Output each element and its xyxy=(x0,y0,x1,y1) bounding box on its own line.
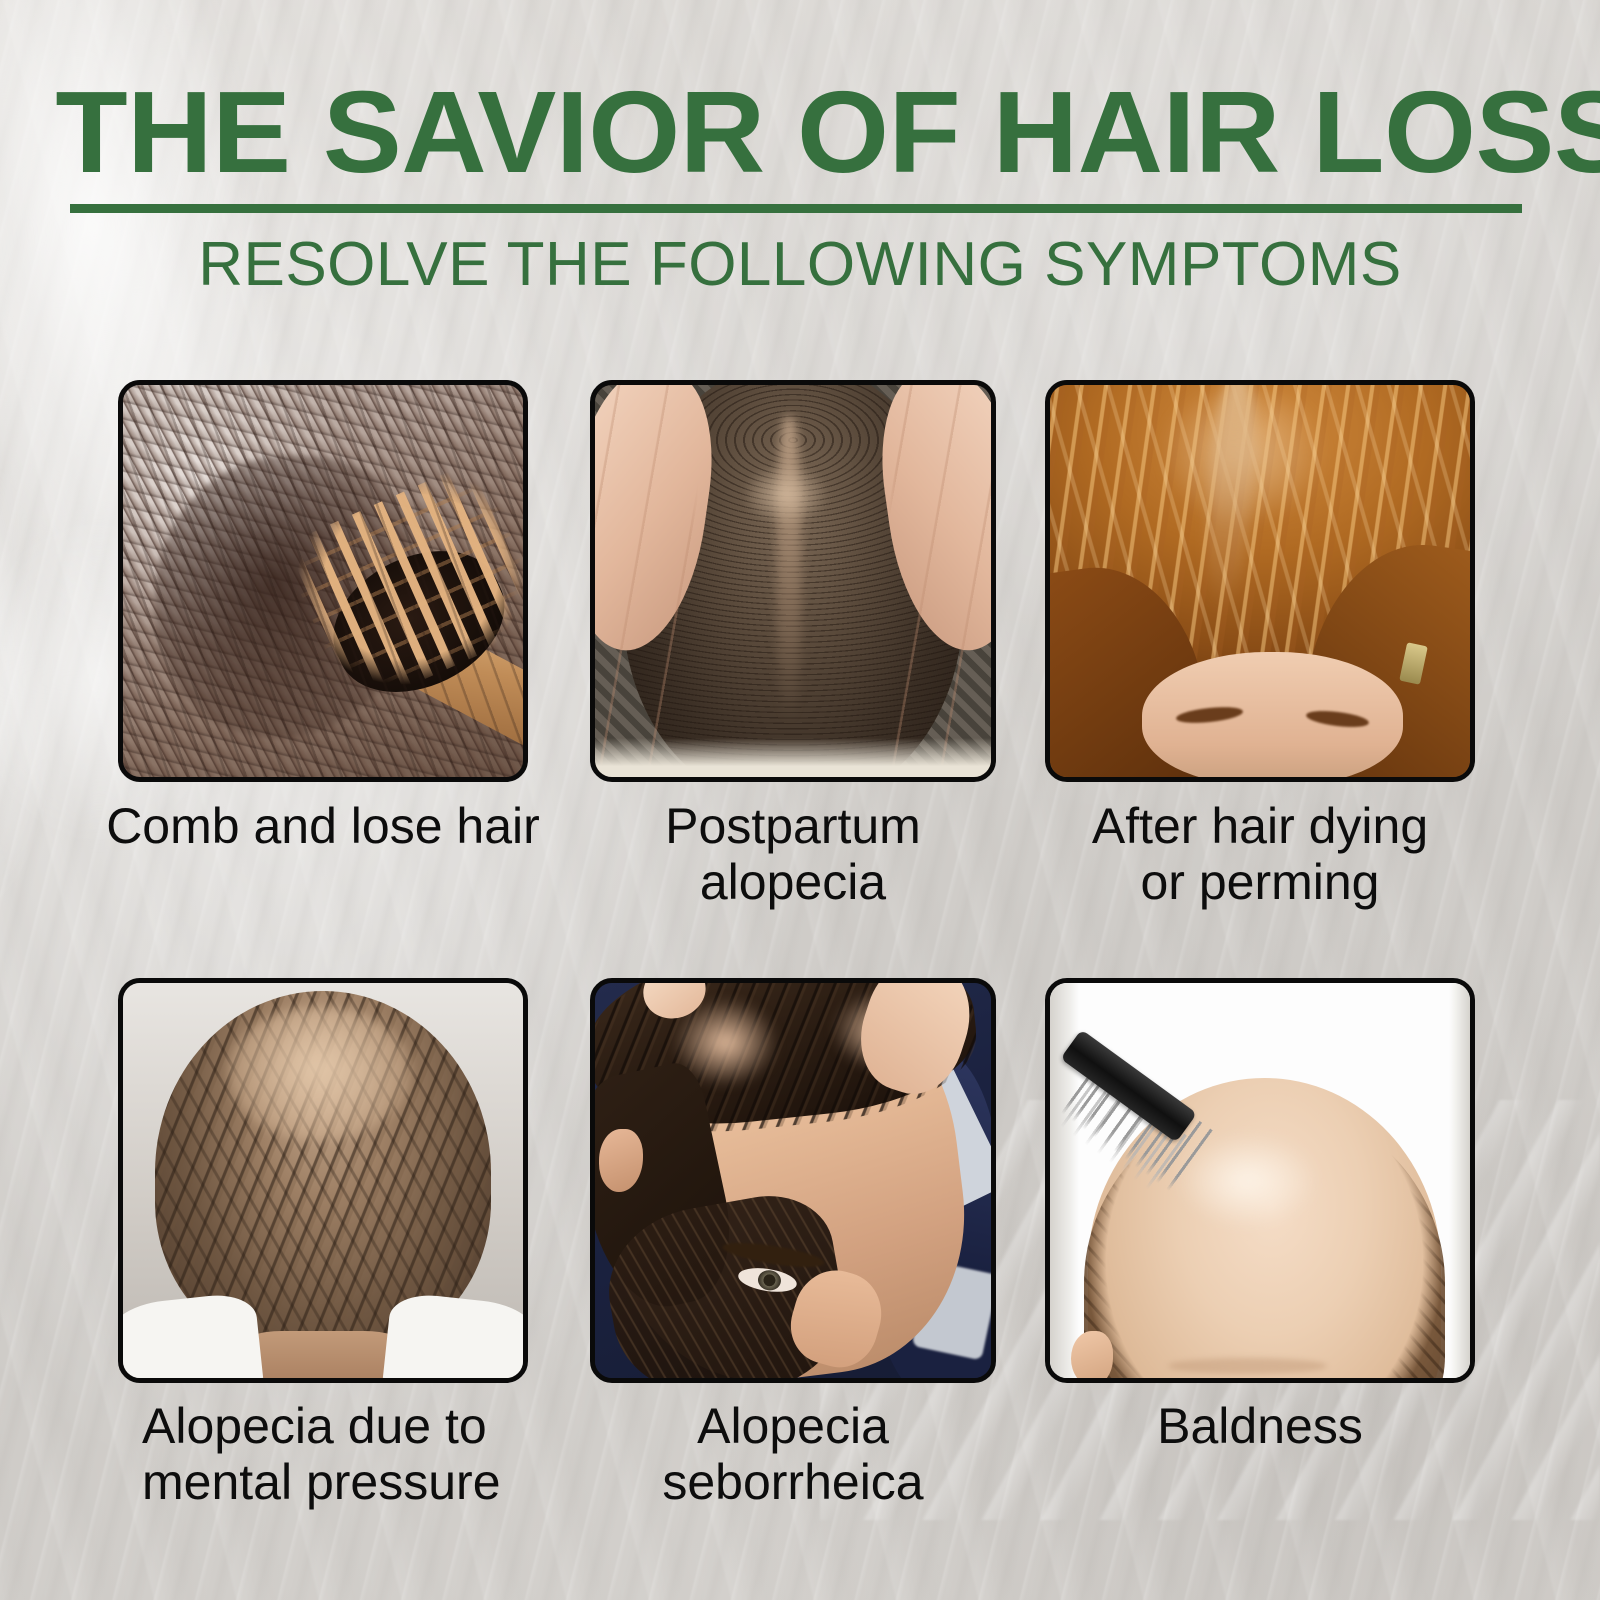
symptom-caption-postpartum-alopecia: Postpartum alopecia xyxy=(576,798,1010,910)
photo-scene xyxy=(123,983,523,1378)
ear xyxy=(1071,1331,1113,1378)
photo-scene xyxy=(1050,983,1470,1378)
white-shirt-left xyxy=(123,1291,263,1378)
symptom-caption-comb-and-lose-hair: Comb and lose hair xyxy=(104,798,542,854)
neck xyxy=(243,1331,403,1378)
photo-scene xyxy=(595,385,991,777)
symptom-photo-comb-and-lose-hair[interactable] xyxy=(118,380,528,782)
hair-strands-overlay xyxy=(123,385,523,777)
symptom-photo-alopecia-seborrheica[interactable] xyxy=(590,978,996,1383)
symptom-caption-baldness: Baldness xyxy=(1031,1398,1489,1454)
poster-root: THE SAVIOR OF HAIR LOSS RESOLVE THE FOLL… xyxy=(0,0,1600,1600)
symptom-caption-after-hair-dying-or-perming: After hair dying or perming xyxy=(1031,798,1489,910)
photo-edge-right xyxy=(1449,983,1470,1378)
symptom-photo-postpartum-alopecia[interactable] xyxy=(590,380,996,782)
photo-scene xyxy=(123,385,523,777)
eyebrow xyxy=(1168,1358,1328,1374)
shirt-collar xyxy=(595,738,991,777)
balding-crown-spot xyxy=(227,1007,411,1141)
symptom-photo-after-hair-dying-or-perming[interactable] xyxy=(1045,380,1475,782)
finger-lines xyxy=(595,385,991,777)
symptom-photo-baldness[interactable] xyxy=(1045,978,1475,1383)
symptom-caption-alopecia-seborrheica: Alopecia seborrheica xyxy=(576,1398,1010,1510)
white-shirt-right xyxy=(383,1291,523,1378)
photo-scene xyxy=(1050,385,1470,777)
symptom-photo-alopecia-due-to-mental-pressure[interactable] xyxy=(118,978,528,1383)
photo-scene xyxy=(595,983,991,1378)
symptom-grid: Comb and lose hair Postpartum alopecia xyxy=(0,0,1600,1600)
